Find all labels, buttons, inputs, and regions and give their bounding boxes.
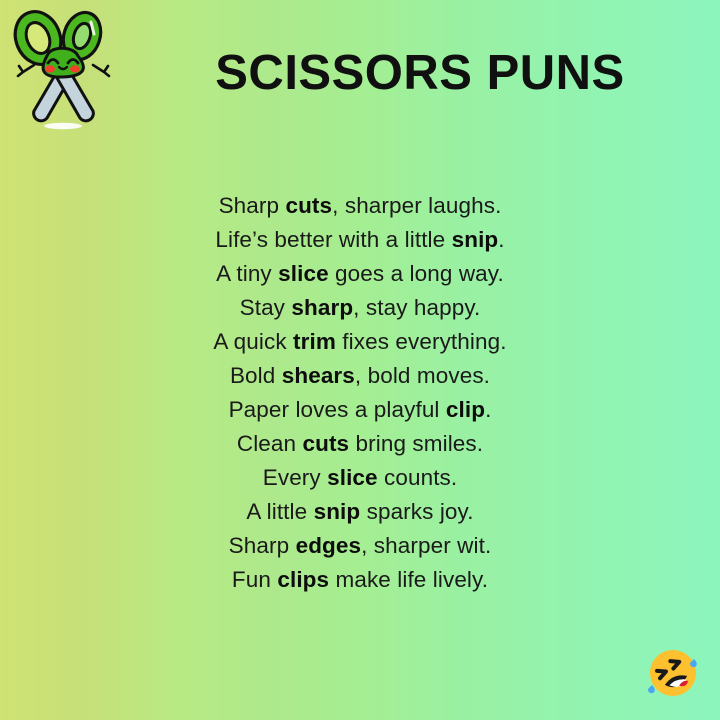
pun-line: Stay sharp, stay happy. (60, 291, 660, 325)
pun-line: A little snip sparks joy. (60, 495, 660, 529)
pun-keyword: clips (277, 567, 329, 592)
scissors-puns-poster: SCISSORS PUNS Sharp cuts, sharper laughs… (0, 0, 720, 720)
pun-keyword: slice (278, 261, 329, 286)
mascot-arm-left (18, 65, 34, 76)
pun-text-after: . (485, 397, 491, 422)
pun-text-before: A quick (213, 329, 293, 354)
pun-text-after: sparks joy. (360, 499, 473, 524)
puns-list: Sharp cuts, sharper laughs. Life’s bette… (60, 189, 660, 597)
scissors-mascot-icon (8, 8, 118, 133)
pun-line: Sharp edges, sharper wit. (60, 529, 660, 563)
emoji-face (643, 643, 703, 703)
pun-text-after: , sharper wit. (361, 533, 491, 558)
pun-line: Fun clips make life lively. (60, 563, 660, 597)
emoji-tear-bottom (648, 685, 655, 693)
pun-text-before: Sharp (229, 533, 296, 558)
pun-text-after: bring smiles. (349, 431, 483, 456)
pun-text-before: A little (246, 499, 313, 524)
pun-keyword: snip (452, 227, 499, 252)
pun-line: Life’s better with a little snip. (60, 223, 660, 257)
pun-text-before: Paper loves a playful (229, 397, 446, 422)
mascot-arm-right (93, 65, 109, 76)
pun-text-before: A tiny (216, 261, 278, 286)
pun-text-before: Life’s better with a little (215, 227, 451, 252)
pun-line: Bold shears, bold moves. (60, 359, 660, 393)
mascot-cheek-left (45, 65, 55, 72)
pun-text-before: Clean (237, 431, 303, 456)
pun-line: A tiny slice goes a long way. (60, 257, 660, 291)
pun-text-before: Every (263, 465, 327, 490)
pun-text-after: counts. (378, 465, 458, 490)
laughing-emoji-icon (643, 643, 703, 703)
pun-text-before: Fun (232, 567, 277, 592)
pun-line: Paper loves a playful clip. (60, 393, 660, 427)
pun-keyword: slice (327, 465, 378, 490)
pun-line: Clean cuts bring smiles. (60, 427, 660, 461)
pun-text-after: , stay happy. (353, 295, 480, 320)
pun-keyword: edges (296, 533, 362, 558)
pun-text-after: , sharper laughs. (332, 193, 501, 218)
pun-keyword: cuts (285, 193, 332, 218)
pun-text-before: Stay (240, 295, 292, 320)
pun-keyword: clip (446, 397, 485, 422)
mascot-shadow-ellipse (44, 123, 82, 129)
pun-text-after: . (498, 227, 504, 252)
pun-keyword: cuts (303, 431, 350, 456)
pun-line: Every slice counts. (60, 461, 660, 495)
pun-text-after: , bold moves. (355, 363, 490, 388)
mascot-cheek-right (70, 65, 80, 72)
pun-keyword: trim (293, 329, 336, 354)
pun-text-before: Bold (230, 363, 282, 388)
scissors-mascot-illustration (8, 8, 118, 133)
pun-text-after: fixes everything. (336, 329, 507, 354)
pun-line: Sharp cuts, sharper laughs. (60, 189, 660, 223)
pun-keyword: snip (314, 499, 361, 524)
pun-line: A quick trim fixes everything. (60, 325, 660, 359)
rolling-on-the-floor-laughing-emoji (643, 643, 703, 703)
pun-keyword: shears (282, 363, 355, 388)
page-title: SCISSORS PUNS (120, 44, 720, 102)
pun-keyword: sharp (291, 295, 353, 320)
pun-text-after: make life lively. (329, 567, 488, 592)
pun-text-before: Sharp (219, 193, 286, 218)
pun-text-after: goes a long way. (329, 261, 504, 286)
